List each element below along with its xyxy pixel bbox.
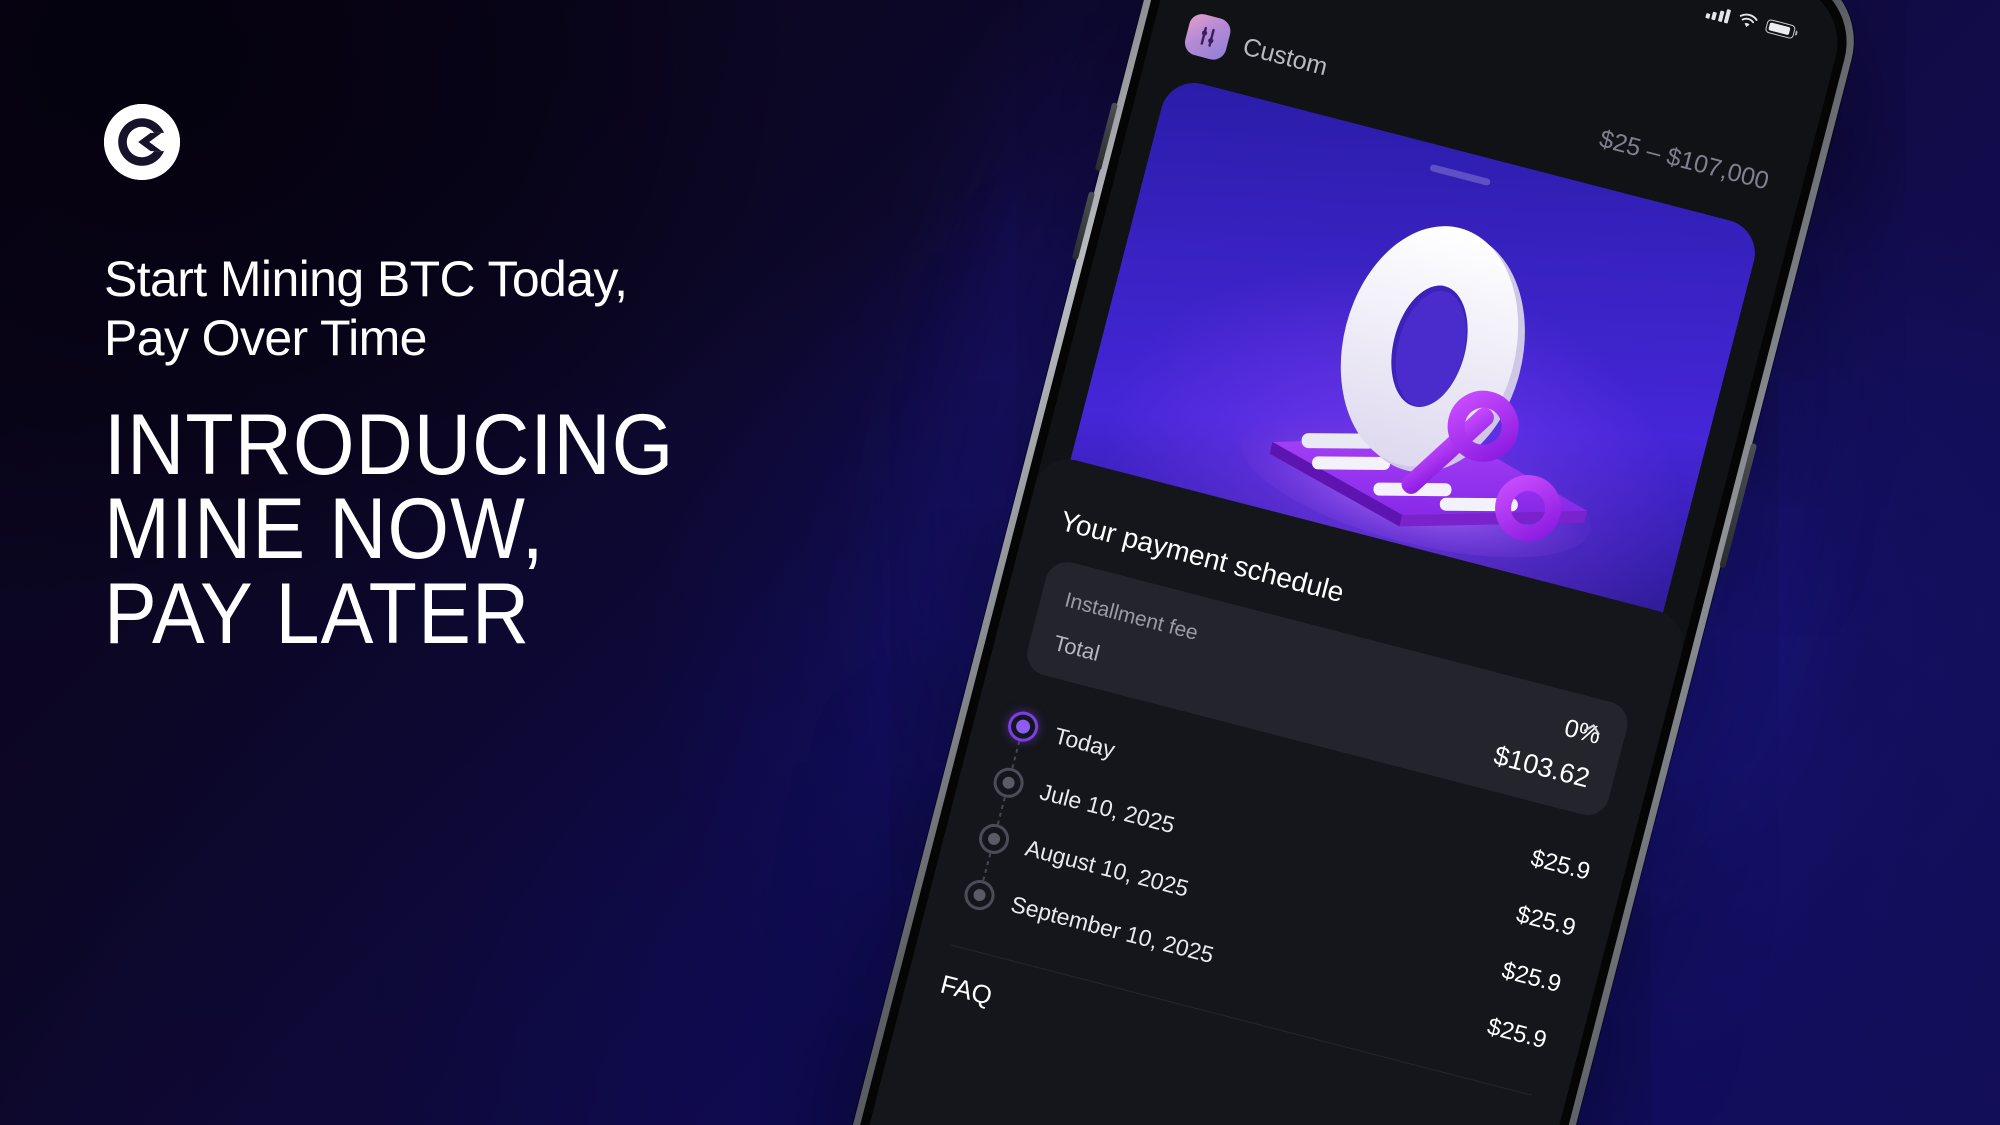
sub-headline: Start Mining BTC Today, Pay Over Time [104,250,924,367]
main-headline: INTRODUCING MINE NOW, PAY LATER [104,403,858,656]
card-grabber [1429,164,1491,186]
phone-screen: Custom $25 – $107,000 [854,0,1851,1125]
marketing-copy: Start Mining BTC Today, Pay Over Time IN… [104,104,924,656]
installment-amount: $25.9 [1499,957,1564,999]
battery-icon [1765,19,1797,40]
total-label: Total [1051,630,1103,667]
total-value: $103.62 [1491,740,1593,794]
app-screen: Custom $25 – $107,000 [854,0,1851,1125]
installment-date: Today [1052,722,1118,764]
promo-stage: Start Mining BTC Today, Pay Over Time IN… [0,0,2000,1125]
installment-amount: $25.9 [1513,901,1578,943]
circular-g-logo [104,104,180,180]
timeline-dot-active [1005,708,1042,745]
phone-bezel: Custom $25 – $107,000 [843,0,1862,1125]
phone-frame: Custom $25 – $107,000 [834,0,1870,1125]
plan-label: Custom [1240,32,1331,82]
timeline-dot [976,821,1013,858]
cellular-bars-icon [1705,3,1732,23]
timeline-dot [990,764,1027,801]
timeline-dot [961,877,998,914]
sliders-icon [1182,11,1233,62]
installment-amount: $25.9 [1484,1013,1549,1055]
phone-mockup: Custom $25 – $107,000 [834,0,1870,1125]
status-icons [1705,3,1796,40]
installment-amount: $25.9 [1528,844,1593,886]
wifi-icon [1736,11,1759,31]
